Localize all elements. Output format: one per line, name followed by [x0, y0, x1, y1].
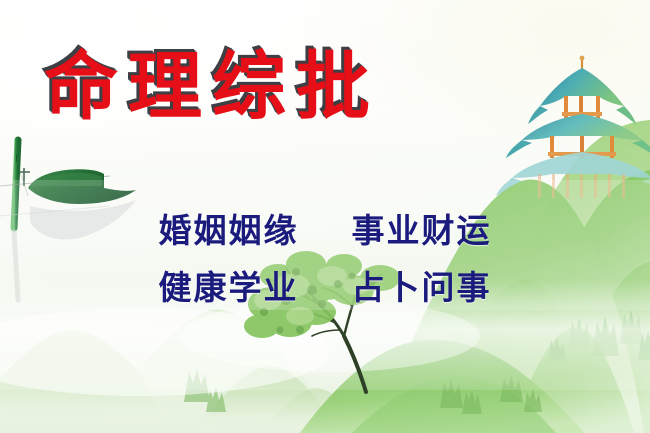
subtitle-block: 婚姻姻缘 事业财运 健康学业 占卜问事	[0, 203, 650, 317]
subtitle-row-1: 婚姻姻缘 事业财运	[0, 203, 650, 260]
page-title: 命理综批	[44, 50, 380, 124]
subtitle-career: 事业财运	[352, 211, 492, 250]
subtitle-health-study: 健康学业	[159, 268, 299, 307]
fortune-telling-banner: 命理综批 婚姻姻缘 事业财运 健康学业 占卜问事	[0, 0, 650, 433]
subtitle-row-2: 健康学业 占卜问事	[0, 260, 650, 317]
subtitle-marriage: 婚姻姻缘	[159, 211, 299, 250]
subtitle-divination: 占卜问事	[352, 268, 492, 307]
